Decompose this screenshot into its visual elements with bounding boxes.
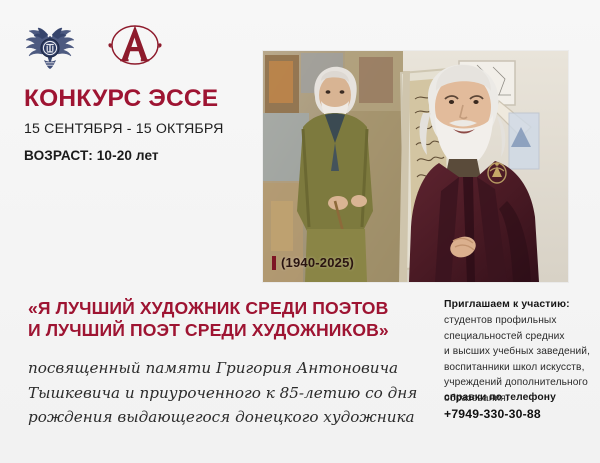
invitation-line: учреждений дополнительного bbox=[444, 375, 596, 391]
dedication-line-1: посвященный памяти Григория Антоновича bbox=[28, 356, 428, 381]
page-title: КОНКУРС ЭССЕ bbox=[24, 86, 274, 112]
contact-block: справки по телефону +7949-330-30-88 bbox=[444, 392, 596, 421]
invitation-block: Приглашаем к участию: студентов профильн… bbox=[444, 299, 596, 406]
poster-canvas: КОНКУРС ЭССЕ 15 СЕНТЯБРЯ - 15 ОКТЯБРЯ ВО… bbox=[0, 0, 600, 463]
invitation-heading: Приглашаем к участию: bbox=[444, 299, 596, 310]
invitation-line: специальностей средних bbox=[444, 329, 596, 345]
contact-heading: справки по телефону bbox=[444, 392, 596, 403]
invitation-line: студентов профильных bbox=[444, 313, 596, 329]
headline-block: КОНКУРС ЭССЕ 15 СЕНТЯБРЯ - 15 ОКТЯБРЯ ВО… bbox=[24, 86, 274, 163]
age-label: ВОЗРАСТ: bbox=[24, 148, 93, 163]
contest-dates: 15 СЕНТЯБРЯ - 15 ОКТЯБРЯ bbox=[24, 121, 274, 137]
photo-caption: (1940-2025) bbox=[272, 255, 354, 270]
invitation-line: и высших учебных заведений, bbox=[444, 344, 596, 360]
age-value: 10-20 лет bbox=[97, 148, 159, 163]
life-years: (1940-2025) bbox=[281, 255, 354, 270]
caption-accent-bar bbox=[272, 256, 276, 270]
letter-a-emblem-icon bbox=[106, 18, 164, 72]
invitation-line: воспитанники школ искусств, bbox=[444, 360, 596, 376]
logo-row bbox=[22, 18, 164, 72]
double-headed-eagle-emblem-icon bbox=[22, 19, 78, 71]
dedication-line-3: рождения выдающегося донецкого художника bbox=[28, 405, 428, 430]
quote-line-2: И ЛУЧШИЙ ПОЭТ СРЕДИ ХУДОЖНИКОВ» bbox=[28, 319, 428, 341]
quote-block: «Я ЛУЧШИЙ ХУДОЖНИК СРЕДИ ПОЭТОВ И ЛУЧШИЙ… bbox=[28, 297, 428, 342]
dedication-text: посвященный памяти Григория Антоновича Т… bbox=[28, 356, 428, 430]
quote-line-1: «Я ЛУЧШИЙ ХУДОЖНИК СРЕДИ ПОЭТОВ bbox=[28, 297, 428, 319]
artist-photo: (1940-2025) bbox=[263, 51, 568, 282]
dedication-line-2: Тышкевича и приуроченного к 85-летию со … bbox=[28, 381, 428, 406]
age-requirement: ВОЗРАСТ: 10-20 лет bbox=[24, 148, 274, 163]
contact-phone[interactable]: +7949-330-30-88 bbox=[444, 407, 596, 421]
